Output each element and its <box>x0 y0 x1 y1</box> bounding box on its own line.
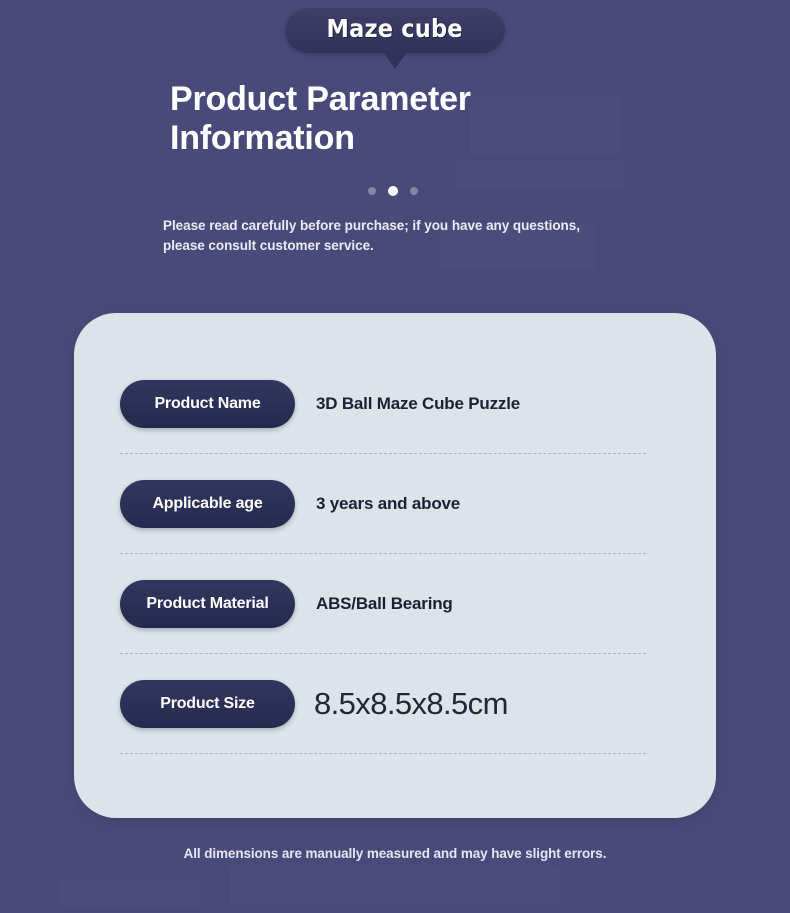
page-title-line-2: Information <box>170 119 690 158</box>
row-divider <box>120 553 646 554</box>
parameter-label: Product Name <box>154 395 260 413</box>
parameter-label: Applicable age <box>152 495 262 513</box>
parameter-label-pill: Product Name <box>120 380 295 428</box>
parameter-label-pill: Product Size <box>120 680 295 728</box>
row-divider <box>120 453 646 454</box>
parameter-label-pill: Applicable age <box>120 480 295 528</box>
carousel-dot-2-active[interactable] <box>388 186 398 196</box>
product-badge: Maze cube <box>0 7 790 69</box>
page-title-line-1: Product Parameter <box>170 80 690 119</box>
footer-disclaimer: All dimensions are manually measured and… <box>0 846 790 861</box>
parameter-label-pill: Product Material <box>120 580 295 628</box>
page-subtitle: Please read carefully before purchase; i… <box>163 216 633 255</box>
page-title: Product Parameter Information <box>170 80 690 158</box>
row-divider <box>120 753 646 754</box>
page-subtitle-line-2: please consult customer service. <box>163 236 633 256</box>
parameter-label: Product Material <box>146 595 268 613</box>
parameter-value: 3 years and above <box>316 494 460 514</box>
page-subtitle-line-1: Please read carefully before purchase; i… <box>163 216 633 236</box>
parameter-value: 3D Ball Maze Cube Puzzle <box>316 394 520 414</box>
parameter-label: Product Size <box>160 695 255 713</box>
watermark-shape <box>230 865 560 905</box>
parameter-list: Product Name 3D Ball Maze Cube Puzzle Ap… <box>120 370 691 770</box>
row-divider <box>120 653 646 654</box>
parameter-row: Product Size 8.5x8.5x8.5cm <box>120 670 691 770</box>
parameter-row: Product Name 3D Ball Maze Cube Puzzle <box>120 370 691 470</box>
parameter-value: ABS/Ball Bearing <box>316 594 453 614</box>
parameter-row: Applicable age 3 years and above <box>120 470 691 570</box>
parameter-value: 8.5x8.5x8.5cm <box>314 686 508 722</box>
watermark-shape <box>455 160 625 188</box>
parameter-card: Product Name 3D Ball Maze Cube Puzzle Ap… <box>74 313 716 818</box>
carousel-dot-1[interactable] <box>368 187 376 195</box>
watermark-shape <box>60 880 200 906</box>
badge-label: Maze cube <box>327 16 463 41</box>
carousel-dots[interactable] <box>368 186 418 196</box>
carousel-dot-3[interactable] <box>410 187 418 195</box>
badge-bubble: Maze cube <box>285 7 504 53</box>
parameter-row: Product Material ABS/Ball Bearing <box>120 570 691 670</box>
badge-tail-icon <box>383 52 407 69</box>
